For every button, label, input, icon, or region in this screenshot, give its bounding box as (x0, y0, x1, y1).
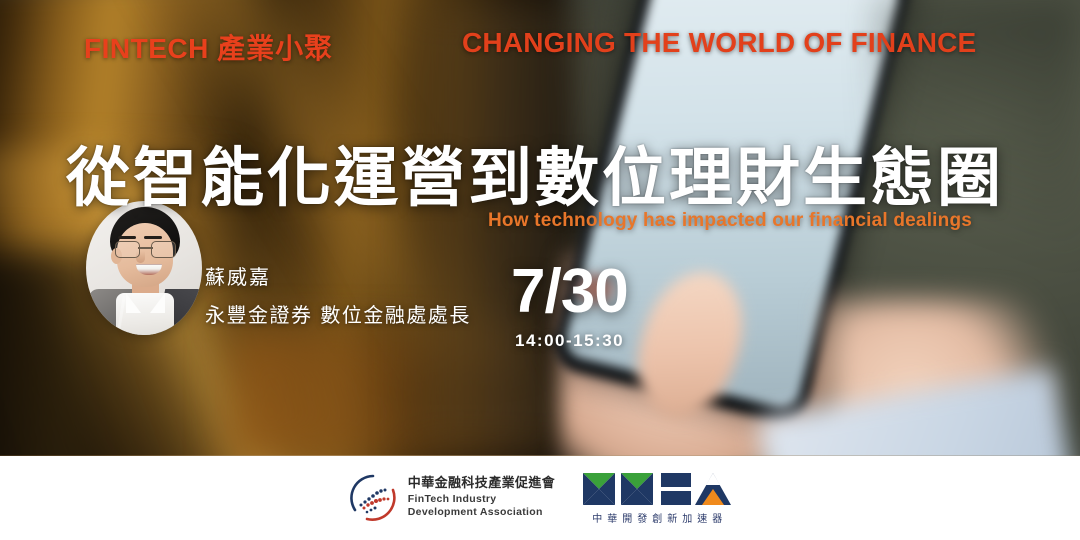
avatar-collar-right (150, 293, 165, 313)
footer-logo-bar: 中華金融科技產業促進會 FinTech Industry Development… (0, 456, 1080, 540)
fida-name-en-line1: FinTech Industry (408, 493, 555, 506)
kicker-left-cjk: 產業小聚 (217, 32, 333, 65)
kkia-name-cn: 中華開發創新加速器 (587, 510, 727, 525)
fida-circle-icon (347, 472, 399, 524)
kkia-wordmark-icon (581, 471, 733, 507)
fida-name-en-line2: Development Association (408, 506, 555, 519)
avatar-collar-left (126, 293, 141, 313)
avatar (86, 201, 202, 335)
event-time: 14:00-15:30 (515, 331, 624, 351)
glasses-lens-right (151, 241, 176, 258)
event-series-kicker: FINTECH 產業小聚 (84, 27, 333, 67)
headline-english: CHANGING THE WORLD OF FINANCE (462, 27, 976, 59)
subtitle-english: How technology has impacted our financia… (488, 210, 972, 232)
logo-kkia: 中華開發創新加速器 (581, 471, 733, 525)
page-title: 從智能化運營到數位理財生態圈 (66, 127, 1004, 219)
logo-fintech-industry-development-association: 中華金融科技產業促進會 FinTech Industry Development… (347, 472, 555, 524)
event-poster: FINTECH 產業小聚 CHANGING THE WORLD OF FINAN… (0, 0, 1080, 540)
fida-name-cn: 中華金融科技產業促進會 (408, 476, 555, 493)
speaker-title: 永豐金證券 數位金融處處長 (205, 299, 471, 328)
glasses-bridge (138, 247, 153, 249)
speaker-name: 蘇威嘉 (205, 261, 271, 290)
avatar-brow-left (118, 236, 136, 239)
glasses-lens-left (115, 241, 140, 258)
fida-text-block: 中華金融科技產業促進會 FinTech Industry Development… (408, 476, 555, 520)
kicker-left-en: FINTECH (84, 33, 209, 64)
event-date: 7/30 (511, 256, 628, 327)
glasses-icon (115, 241, 176, 256)
avatar-brow-right (144, 236, 162, 239)
